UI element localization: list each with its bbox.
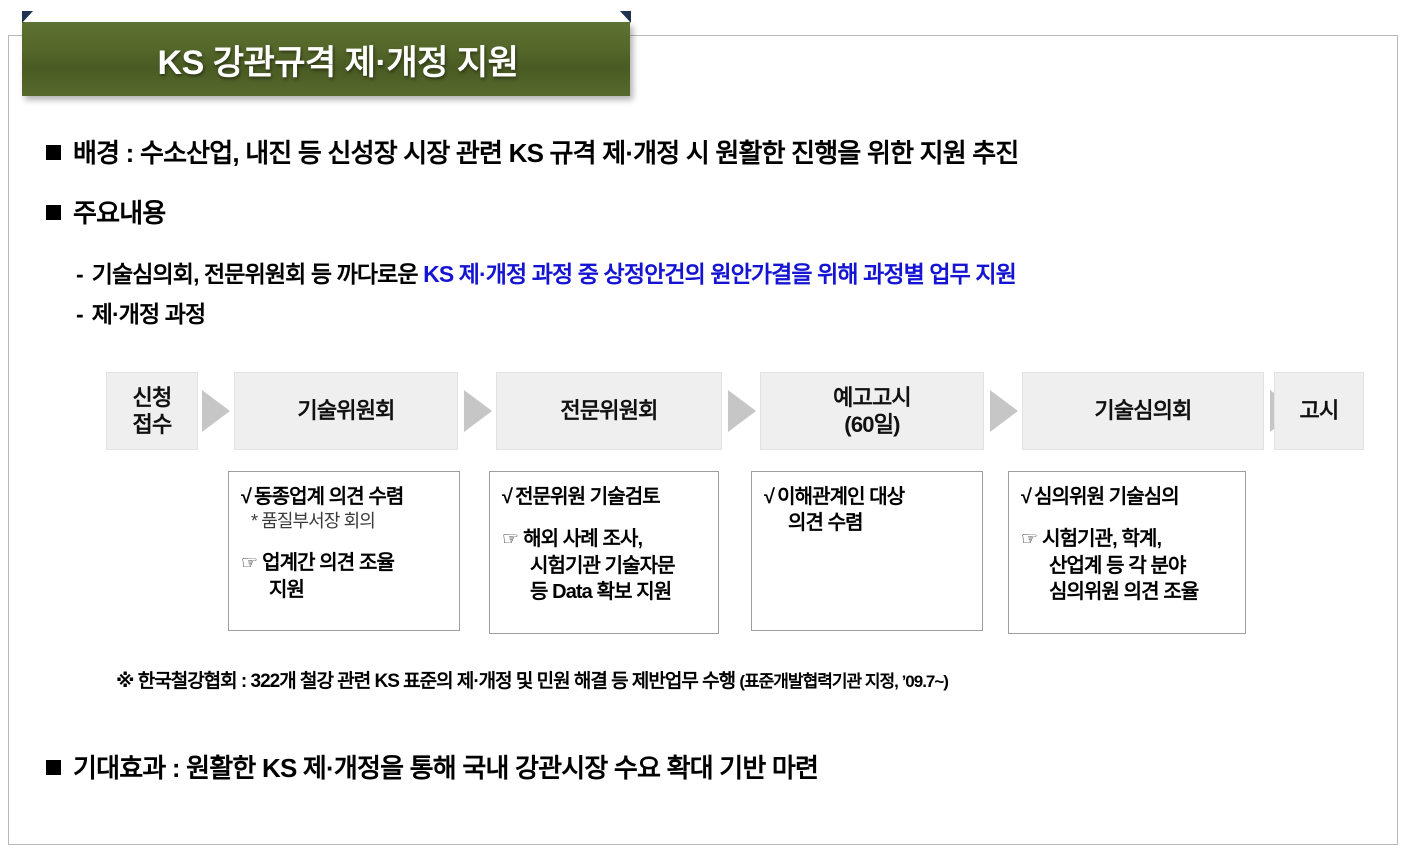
square-bullet-icon xyxy=(46,145,61,160)
flow-step-6: 고시 xyxy=(1274,372,1364,450)
spacer xyxy=(502,510,708,526)
detail-box-4-hand-line1: 시험기관, 학계, xyxy=(1042,528,1161,550)
flow-step-4-line2: (60일) xyxy=(844,412,899,437)
detail-box-3-check-text2: 의견 수렴 xyxy=(764,510,972,536)
sub-bullet-2: -제·개정 과정 xyxy=(76,295,205,329)
detail-box-4-hand-line: ☞시험기관, 학계, xyxy=(1021,526,1235,552)
pointing-hand-icon: ☞ xyxy=(241,553,257,574)
flow-step-2: 기술위원회 xyxy=(234,372,458,450)
detail-box-1: √동종업계 의견 수렴 * 품질부서장 회의 ☞업계간 의견 조율 지원 xyxy=(228,471,460,631)
detail-box-2: √전문위원 기술검토 ☞해외 사례 조사, 시험기관 기술자문 등 Data 확… xyxy=(489,471,719,634)
page-title: KS 강관규격 제·개정 지원 xyxy=(22,22,630,96)
flow-step-4-label: 예고고시 (60일) xyxy=(833,384,911,439)
detail-box-3-check-line: √이해관계인 대상 xyxy=(764,484,972,510)
detail-box-2-hand-line2: 시험기관 기술자문 xyxy=(502,553,708,579)
sub-bullet-1-highlight: KS 제·개정 과정 중 상정안건의 원안가결을 위해 과정별 업무 지원 xyxy=(423,261,1016,287)
check-icon: √ xyxy=(241,486,251,508)
flow-step-1-line1: 신청 xyxy=(133,385,172,410)
expected-effect-bullet: 기대효과 : 원활한 KS 제·개정을 통해 국내 강관시장 수요 확대 기반 … xyxy=(46,748,818,785)
pointing-hand-icon: ☞ xyxy=(1021,529,1037,550)
detail-box-1-note: * 품질부서장 회의 xyxy=(251,510,449,534)
process-flow-diagram: 신청 접수 기술위원회 전문위원회 예고고시 (60일) 기술심의회 고시 xyxy=(106,372,1364,450)
check-icon: √ xyxy=(1021,486,1031,508)
flow-arrow-2-icon xyxy=(464,390,492,432)
spacer xyxy=(1021,510,1235,526)
detail-box-2-check-text: 전문위원 기술검토 xyxy=(515,486,660,508)
flow-step-3-label: 전문위원회 xyxy=(560,397,657,424)
detail-box-4-hand-line3: 심의위원 의견 조율 xyxy=(1021,579,1235,605)
spacer xyxy=(241,534,449,550)
flow-step-4-line1: 예고고시 xyxy=(833,385,911,410)
main-content-heading-text: 주요내용 xyxy=(73,193,165,230)
flow-step-3: 전문위원회 xyxy=(496,372,722,450)
footnote-text: 한국철강협회 : 322개 철강 관련 KS 표준의 제·개정 및 민원 해결 … xyxy=(138,671,740,692)
flow-step-6-label: 고시 xyxy=(1300,397,1339,424)
detail-box-3: √이해관계인 대상 의견 수렴 xyxy=(751,471,983,631)
detail-box-2-check-line: √전문위원 기술검토 xyxy=(502,484,708,510)
flow-step-2-label: 기술위원회 xyxy=(297,397,394,424)
square-bullet-icon xyxy=(46,205,61,220)
flow-arrow-4-icon xyxy=(990,390,1018,432)
pointing-hand-icon: ☞ xyxy=(502,529,518,550)
detail-box-4-check-text: 심의위원 기술심의 xyxy=(1034,486,1179,508)
flow-step-1: 신청 접수 xyxy=(106,372,198,450)
detail-box-4-check-line: √심의위원 기술심의 xyxy=(1021,484,1235,510)
square-bullet-icon xyxy=(46,760,61,775)
flow-step-4: 예고고시 (60일) xyxy=(760,372,984,450)
dash-marker: - xyxy=(76,261,83,287)
detail-box-1-check-line: √동종업계 의견 수렴 xyxy=(241,484,449,510)
slide-title-banner: KS 강관규격 제·개정 지원 xyxy=(22,22,630,96)
flow-arrow-1-icon xyxy=(202,390,230,432)
detail-box-2-hand-line3: 등 Data 확보 지원 xyxy=(502,579,708,605)
background-bullet: 배경 : 수소산업, 내진 등 신성장 시장 관련 KS 규격 제·개정 시 원… xyxy=(46,133,1019,170)
detail-box-1-hand-line: ☞업계간 의견 조율 xyxy=(241,550,449,576)
detail-box-1-hand-line1: 업계간 의견 조율 xyxy=(262,552,394,574)
sub-bullet-1-plain: 기술심의회, 전문위원회 등 까다로운 xyxy=(92,261,423,287)
check-icon: √ xyxy=(502,486,512,508)
detail-box-4-hand-line2: 산업계 등 각 분야 xyxy=(1021,553,1235,579)
flow-step-1-line2: 접수 xyxy=(133,412,172,437)
detail-box-2-hand-line: ☞해외 사례 조사, xyxy=(502,526,708,552)
check-icon: √ xyxy=(764,486,774,508)
flow-step-5: 기술심의회 xyxy=(1022,372,1264,450)
footnote-paren: (표준개발협력기관 지정, ’09.7~) xyxy=(739,672,948,691)
sub-bullet-2-plain: 제·개정 과정 xyxy=(92,301,206,327)
reference-mark-icon: ※ xyxy=(116,671,133,692)
detail-box-1-hand-line2: 지원 xyxy=(241,577,449,603)
main-content-heading: 주요내용 xyxy=(46,193,165,230)
background-bullet-text: 배경 : 수소산업, 내진 등 신성장 시장 관련 KS 규격 제·개정 시 원… xyxy=(73,133,1019,170)
detail-box-3-check-text: 이해관계인 대상 xyxy=(777,486,904,508)
sub-bullet-1: -기술심의회, 전문위원회 등 까다로운 KS 제·개정 과정 중 상정안건의 … xyxy=(76,255,1016,289)
flow-arrow-3-icon xyxy=(728,390,756,432)
flow-step-5-label: 기술심의회 xyxy=(1094,397,1191,424)
footnote: ※ 한국철강협회 : 322개 철강 관련 KS 표준의 제·개정 및 민원 해… xyxy=(116,666,948,693)
expected-effect-text: 기대효과 : 원활한 KS 제·개정을 통해 국내 강관시장 수요 확대 기반 … xyxy=(73,748,818,785)
detail-box-1-check-text: 동종업계 의견 수렴 xyxy=(254,486,403,508)
dash-marker: - xyxy=(76,301,83,327)
detail-box-4: √심의위원 기술심의 ☞시험기관, 학계, 산업계 등 각 분야 심의위원 의견… xyxy=(1008,471,1246,634)
detail-box-2-hand-line1: 해외 사례 조사, xyxy=(523,528,642,550)
flow-step-1-label: 신청 접수 xyxy=(133,384,172,439)
